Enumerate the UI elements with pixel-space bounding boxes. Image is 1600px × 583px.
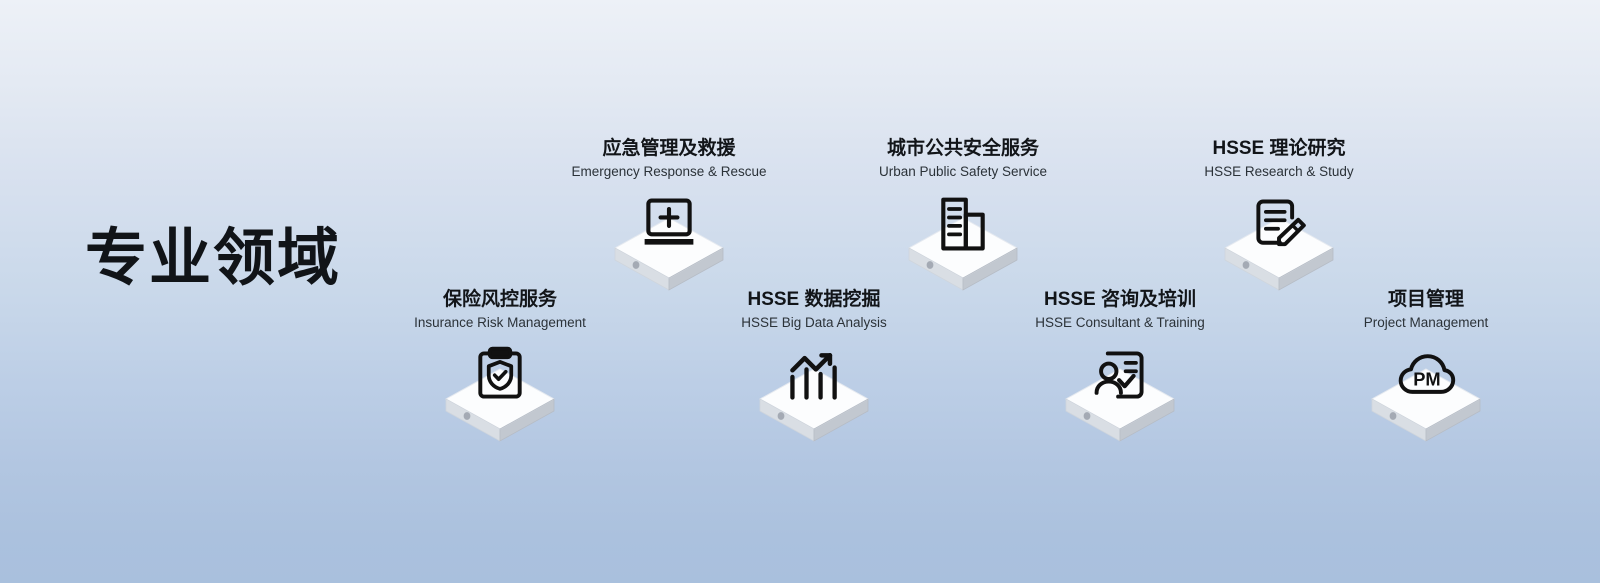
field-icon-group — [1149, 186, 1409, 298]
cloud-pm-icon: PM — [1394, 341, 1458, 405]
field-item-hsse-big-data-analysis[interactable]: HSSE 数据挖掘HSSE Big Data Analysis — [684, 289, 944, 449]
office-buildings-icon — [931, 190, 995, 254]
field-label-en: HSSE Big Data Analysis — [684, 314, 944, 332]
field-label-cn: 应急管理及救援 — [539, 138, 799, 160]
field-icon-group: PM — [1296, 337, 1556, 449]
professional-fields-banner: 专业领域 保险风控服务Insurance Risk Management 应急管… — [0, 0, 1600, 583]
field-item-emergency-response-rescue[interactable]: 应急管理及救援Emergency Response & Rescue — [539, 138, 799, 298]
field-label-en: Insurance Risk Management — [370, 314, 630, 332]
field-label-en: Emergency Response & Rescue — [539, 163, 799, 181]
field-label-cn: 城市公共安全服务 — [833, 138, 1093, 160]
field-label-cn: HSSE 理论研究 — [1149, 138, 1409, 160]
field-icon-group — [990, 337, 1250, 449]
monitor-medical-plus-icon — [637, 190, 701, 254]
field-label-cn: 项目管理 — [1296, 289, 1556, 311]
field-label-en: HSSE Consultant & Training — [990, 314, 1250, 332]
field-label-en: HSSE Research & Study — [1149, 163, 1409, 181]
clipboard-shield-check-icon — [468, 341, 532, 405]
page-title: 专业领域 — [85, 228, 341, 290]
document-pencil-edit-icon — [1247, 190, 1311, 254]
field-item-project-management[interactable]: 项目管理Project Management PM — [1296, 289, 1556, 449]
field-item-hsse-consultant-training[interactable]: HSSE 咨询及培训HSSE Consultant & Training — [990, 289, 1250, 449]
id-card-person-check-icon — [1088, 341, 1152, 405]
field-item-insurance-risk-management[interactable]: 保险风控服务Insurance Risk Management — [370, 289, 630, 449]
field-icon-group — [833, 186, 1093, 298]
field-label-en: Urban Public Safety Service — [833, 163, 1093, 181]
field-item-urban-public-safety-service[interactable]: 城市公共安全服务Urban Public Safety Service — [833, 138, 1093, 298]
field-icon-group — [684, 337, 944, 449]
cloud-pm-text: PM — [1413, 369, 1440, 390]
field-icon-group — [370, 337, 630, 449]
bar-chart-trend-up-icon — [782, 341, 846, 405]
field-label-en: Project Management — [1296, 314, 1556, 332]
field-item-hsse-research-study[interactable]: HSSE 理论研究HSSE Research & Study — [1149, 138, 1409, 298]
field-icon-group — [539, 186, 799, 298]
